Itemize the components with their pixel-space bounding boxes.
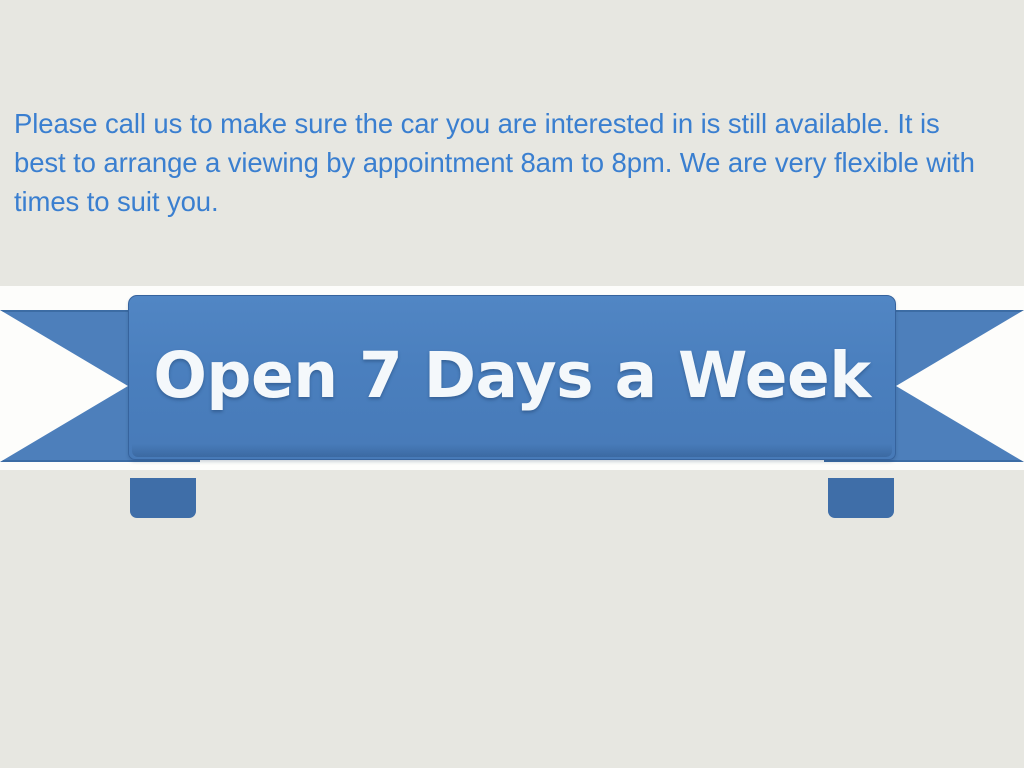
ribbon-tail-right-bottom-edge xyxy=(824,460,1024,462)
ribbon-tail-left-bottom-edge xyxy=(0,460,200,462)
ribbon-fold-tab-right xyxy=(828,478,894,518)
ribbon-headline: Open 7 Days a Week xyxy=(153,344,870,407)
ribbon-fold-tab-left xyxy=(130,478,196,518)
ribbon-banner: Open 7 Days a Week xyxy=(0,280,1024,480)
intro-paragraph: Please call us to make sure the car you … xyxy=(14,104,982,221)
ribbon-panel-bottom-roll xyxy=(132,444,892,457)
ribbon-center-panel: Open 7 Days a Week xyxy=(128,295,896,460)
slide-canvas: Please call us to make sure the car you … xyxy=(0,0,1024,768)
